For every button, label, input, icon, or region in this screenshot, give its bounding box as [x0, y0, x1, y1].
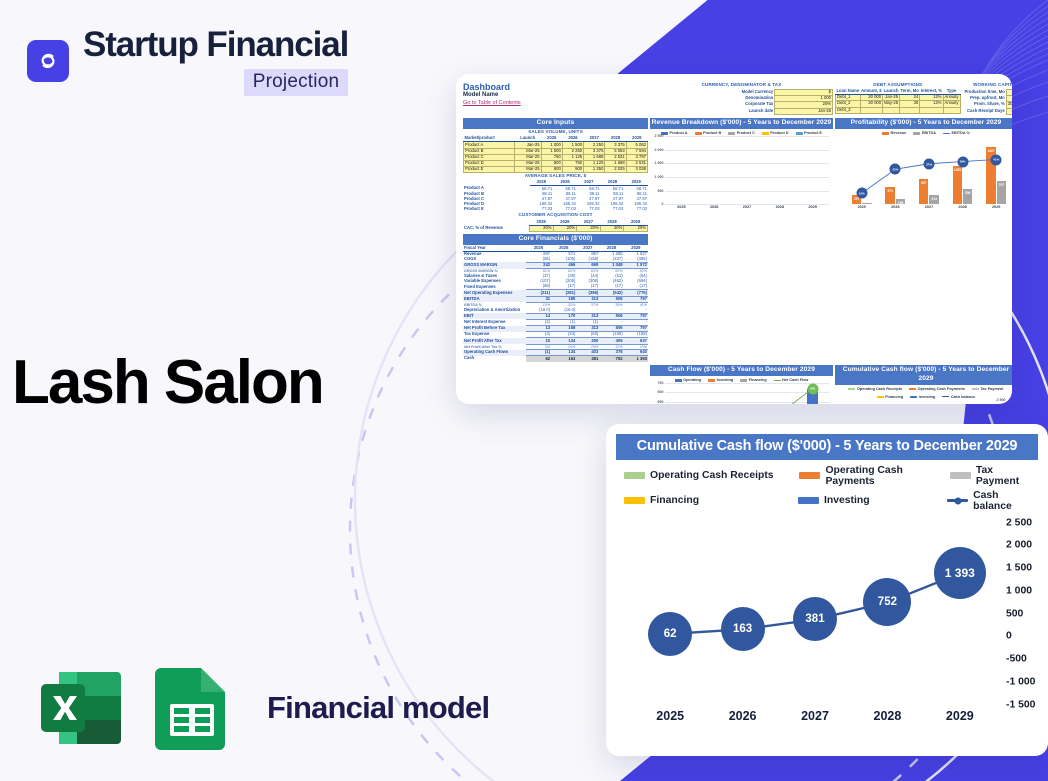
excel-icon — [33, 660, 129, 756]
core-inputs-header: Core Inputs — [463, 118, 648, 130]
y-tick: 500 — [658, 400, 664, 404]
x-tick: 2027 — [779, 709, 851, 723]
y-tick: 500 — [658, 189, 664, 193]
data-point-label: 39% — [957, 156, 968, 167]
legend-item: Net Cash Flow — [774, 378, 809, 382]
sales-volume-table: Market/product Launch 2025 2026 2027 202… — [463, 136, 648, 173]
x-tick: 2029 — [796, 205, 829, 209]
table-row: Cash621633817521 393 — [463, 356, 648, 362]
legend-swatch — [799, 472, 820, 479]
working-capital-table: Production time, Mo2 Safety Stock, %10% … — [964, 89, 1013, 115]
legend-item: Financing — [877, 395, 903, 399]
chart-x-labels: 20252026202720282029 — [845, 205, 1012, 209]
legend-label: Financing — [650, 495, 699, 506]
cac-caption: CUSTOMER ACQUISITION COST — [463, 212, 648, 219]
legend-item: Product C — [728, 131, 755, 135]
chart-title: Cumulative Cash flow ($'000) - 5 Years t… — [835, 365, 1012, 385]
legend-item: Product E — [796, 131, 822, 135]
y-tick: -1 000 — [1006, 676, 1035, 687]
chart-legend: OperatingInvestingFinancingNet Cash Flow — [650, 376, 833, 383]
core-inputs-section: Core Inputs SALES VOLUME, UNITS Market/p… — [463, 118, 648, 362]
poster-canvas: Startup Financial Projection Lash Salon — [0, 0, 1048, 781]
chart-y-axis: 2 5002 0001 5001 0005000-500-1 000-1 500 — [996, 523, 1038, 705]
infinity-loop-icon — [27, 40, 69, 82]
y-tick: 1 000 — [1006, 585, 1032, 596]
legend-swatch — [950, 472, 971, 479]
chart-plot-area: 621633817521 393 2 5002 0001 5001 000500… — [634, 523, 996, 705]
y-tick: -1 500 — [1006, 699, 1035, 710]
x-tick: 2026 — [698, 205, 731, 209]
legend-item: Operating Cash Receipts — [848, 387, 902, 391]
x-tick: 2029 — [924, 709, 996, 723]
table-header-row: Market/product Launch 2025 2026 2027 202… — [464, 136, 648, 142]
data-point-label: 752 — [863, 578, 911, 626]
data-point-label: 10% — [856, 188, 867, 199]
y-tick: 2 500 — [997, 398, 1006, 402]
table-row: Launch dateJan-25 — [650, 108, 833, 114]
data-point-label: 1 393 — [934, 547, 986, 599]
legend-swatch — [798, 497, 819, 504]
data-point-label: 640 — [807, 383, 818, 394]
x-tick: 2029 — [979, 205, 1012, 209]
y-tick: 700 — [658, 381, 664, 385]
legend-item: Operating Cash Receipts — [624, 470, 799, 481]
chart-legend: Operating Cash Receipts Operating Cash P… — [616, 460, 1038, 517]
legend-item: EBITDA — [913, 131, 936, 135]
table-row: Cash Receipt Days21 — [964, 108, 1013, 114]
chart-title: Profitability ($'000) - 5 Years to Decem… — [835, 118, 1012, 130]
format-badges: Financial model — [33, 660, 489, 756]
legend-line-swatch — [947, 499, 968, 502]
core-financials-table: Fiscal Year20252026202720282029Revenue29… — [463, 245, 648, 361]
x-tick: 2028 — [946, 205, 980, 209]
data-point-label: 37% — [924, 159, 935, 170]
data-point-label: 381 — [793, 597, 837, 641]
legend-item: Tax Payment — [950, 465, 1036, 487]
table-row: Debt_3 — [836, 107, 961, 113]
legend-item: Investing — [708, 378, 733, 382]
legend-item: Product D — [762, 131, 789, 135]
avg-price-caption: AVERAGE SALES PRICE, $ — [463, 173, 648, 180]
currency-block: CURRENCY, DENOMINATOR & TAX Model Curren… — [650, 82, 833, 115]
legend-item: EBITDA % — [943, 131, 970, 135]
legend-item: Operating Cash Payments — [909, 387, 965, 391]
chart-legend: Product AProduct BProduct CProduct DProd… — [650, 129, 833, 136]
x-tick: 2027 — [731, 205, 764, 209]
cac-table: 20252026 20272028 2029 CAC, % of Revenue… — [463, 219, 648, 231]
y-tick: 1 500 — [655, 161, 664, 165]
legend-label: Tax Payment — [976, 465, 1036, 487]
legend-item: Product A — [661, 131, 688, 135]
dashboard-title: Dashboard — [463, 82, 648, 92]
data-point-label: 62 — [648, 612, 692, 656]
cumulative-cash-flow-chart-mini[interactable]: Cumulative Cash flow ($'000) - 5 Years t… — [835, 365, 1012, 404]
data-point-label: 32% — [890, 164, 901, 175]
dashboard-preview-card[interactable]: Dashboard Model Name Go to Table of Cont… — [456, 74, 1012, 404]
currency-block-header: CURRENCY, DENOMINATOR & TAX — [650, 82, 833, 89]
average-price-table: 2025 2026 2027 2028 2029 Product A58.715… — [463, 180, 648, 212]
assumptions-row: DEBT ASSUMPTIONS Loan Name Amount, $ Lau… — [835, 82, 1012, 115]
toc-link[interactable]: Go to Table of Contents — [463, 100, 648, 107]
revenue-breakdown-chart[interactable]: Revenue Breakdown ($'000) - 5 Years to D… — [650, 118, 833, 362]
dashboard-header-block: Dashboard Model Name Go to Table of Cont… — [463, 82, 648, 115]
legend-swatch — [624, 497, 645, 504]
brand-logo: Startup Financial Projection — [27, 27, 348, 96]
legend-item: Tax Payment — [972, 387, 1004, 391]
chart-plot: 05001 0001 5002 0002 500 — [665, 136, 829, 204]
brand-subtitle: Projection — [244, 69, 349, 96]
bar-group — [796, 136, 829, 204]
data-point-label: 41% — [991, 154, 1002, 165]
legend-item: Cash balance — [947, 490, 1036, 512]
chart-title: Cumulative Cash flow ($'000) - 5 Years t… — [616, 434, 1038, 460]
bar-group — [731, 136, 764, 204]
legend-item: Investing — [798, 495, 947, 506]
working-capital-block: WORKING CAPITAL ASSUMPTIONS Production t… — [964, 82, 1013, 115]
y-tick: -500 — [1006, 654, 1027, 665]
legend-label: Operating Cash Receipts — [650, 470, 774, 481]
legend-item: Cash balance — [942, 395, 975, 399]
debt-table: Loan Name Amount, $ Launch Term, Mo Inte… — [835, 89, 961, 114]
legend-label: Investing — [824, 495, 870, 506]
x-tick: 2025 — [845, 205, 879, 209]
profitability-chart[interactable]: Profitability ($'000) - 5 Years to Decem… — [835, 118, 1012, 362]
chart-plot: 2 5002 0001 5001 0005000-500-1 000-1 500… — [839, 400, 995, 404]
bar-group — [665, 136, 698, 204]
y-tick: 500 — [1006, 608, 1023, 619]
legend-item: Product B — [695, 131, 722, 135]
table-row: CAC, % of Revenue 20%20% 20%20% 20% — [463, 225, 648, 231]
debt-block: DEBT ASSUMPTIONS Loan Name Amount, $ Lau… — [835, 82, 961, 115]
y-tick: 2 500 — [1006, 517, 1032, 528]
y-tick: 600 — [658, 390, 664, 394]
x-tick: 2025 — [634, 709, 706, 723]
y-tick: 2 500 — [655, 134, 664, 138]
y-tick: 0 — [1006, 631, 1012, 642]
chart-legend: RevenueEBITDAEBITDA % — [835, 129, 1012, 136]
y-tick: 1 000 — [655, 175, 664, 179]
brand-title: Startup Financial — [83, 27, 348, 64]
y-tick: 1 500 — [1006, 563, 1032, 574]
model-name-label: Model Name — [463, 92, 648, 99]
wc-block-header: WORKING CAPITAL ASSUMPTIONS — [964, 82, 1013, 89]
top-right-blue-shape — [610, 0, 1048, 80]
google-sheets-icon — [151, 660, 233, 756]
y-tick: 0 — [662, 202, 664, 206]
chart-plot: 297 31 571 185 857 313 1285 506 1927 797… — [845, 136, 1012, 204]
chart-title: Cash Flow ($'000) - 5 Years to December … — [650, 365, 833, 377]
legend-item: Investing — [910, 395, 935, 399]
core-financials-header: Core Financials ($'000) — [463, 234, 648, 246]
table-row: Product EMar-256009001 3502 0253 038 — [464, 167, 648, 173]
legend-item: Financing — [740, 378, 766, 382]
chart-plot: -1000100200300400500600700 6210121837164… — [665, 383, 829, 404]
x-tick: 2028 — [851, 709, 923, 723]
legend-swatch — [624, 472, 645, 479]
legend-item: Financing — [624, 495, 798, 506]
legend-item: Operating — [675, 378, 701, 382]
x-tick: 2027 — [912, 205, 946, 209]
cash-flow-chart[interactable]: Cash Flow ($'000) - 5 Years to December … — [650, 365, 833, 404]
bar-group — [763, 136, 796, 204]
x-tick: 2025 — [665, 205, 698, 209]
currency-table: Model Currency$ Denomination1 000 Corpor… — [650, 89, 833, 115]
x-tick: 2026 — [879, 205, 913, 209]
bar-group — [698, 136, 731, 204]
legend-item: Operating Cash Payments — [799, 465, 949, 487]
page-title: Lash Salon — [12, 352, 323, 414]
format-label: Financial model — [267, 690, 489, 726]
y-tick: 2 000 — [655, 148, 664, 152]
legend-label: Operating Cash Payments — [825, 465, 949, 487]
cumulative-cash-flow-card[interactable]: Cumulative Cash flow ($'000) - 5 Years t… — [606, 424, 1048, 756]
y-tick: 2 000 — [1006, 540, 1032, 551]
legend-label: Cash balance — [973, 490, 1036, 512]
x-tick: 2026 — [706, 709, 778, 723]
chart-title: Revenue Breakdown ($'000) - 5 Years to D… — [650, 118, 833, 130]
chart-x-axis: 20252026202720282029 — [634, 709, 996, 723]
chart-x-labels: 20252026202720282029 — [665, 205, 829, 209]
legend-item: Revenue — [882, 131, 906, 135]
x-tick: 2028 — [763, 205, 796, 209]
data-point-label: 163 — [721, 607, 765, 651]
chart-legend: Operating Cash ReceiptsOperating Cash Pa… — [835, 385, 1012, 400]
